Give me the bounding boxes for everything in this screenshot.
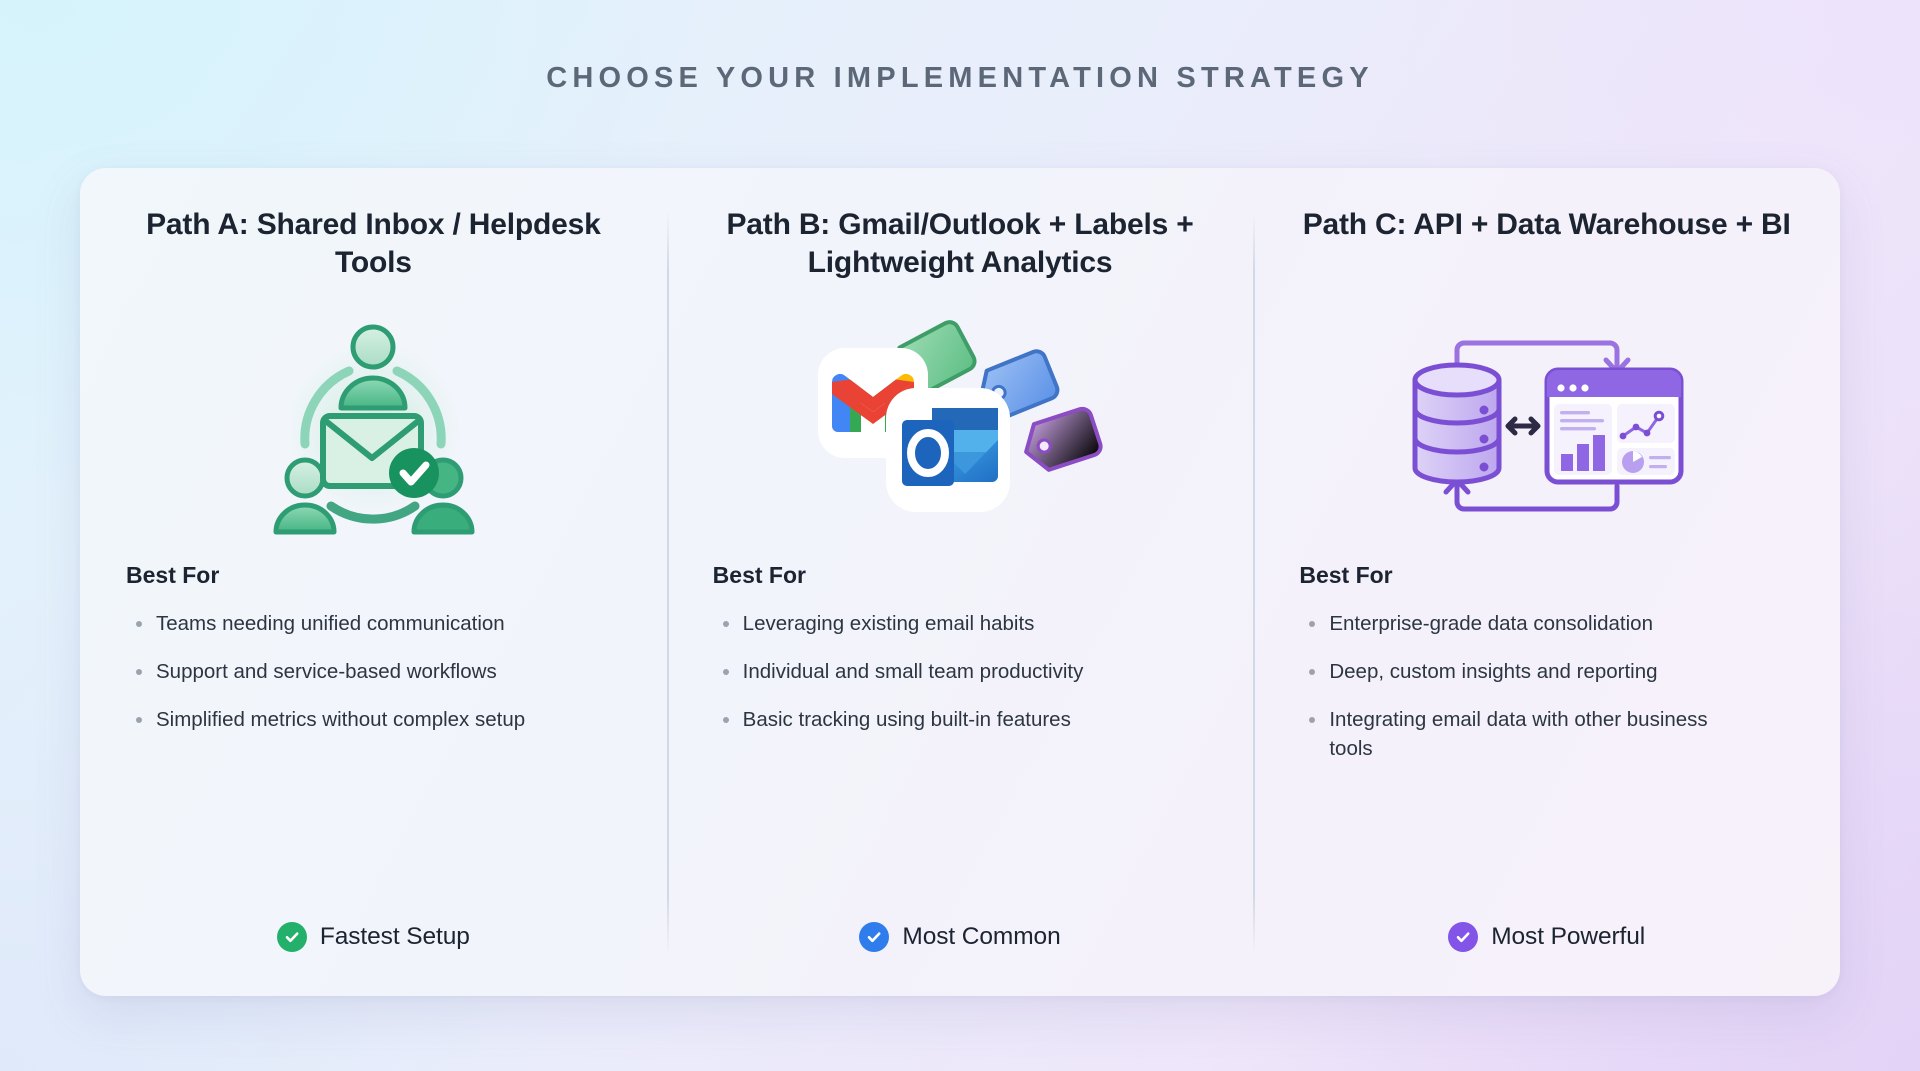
path-c-best-for-label: Best For [1299,562,1794,589]
path-c-bullet-list: Enterprise-grade data consolidation Deep… [1299,609,1794,782]
path-b-badge-label: Most Common [902,923,1060,951]
path-b-column[interactable]: Path B: Gmail/Outlook + Labels + Lightwe… [667,168,1254,996]
list-item: Teams needing unified communication [126,609,556,638]
path-b-bullet-list: Leveraging existing email habits Individ… [713,609,1208,753]
path-a-title: Path A: Shared Inbox / Helpdesk Tools [126,206,621,286]
path-c-column[interactable]: Path C: API + Data Warehouse + BI [1253,168,1840,996]
list-item: Individual and small team productivity [713,657,1143,686]
path-c-badge-label: Most Powerful [1491,923,1645,951]
check-circle-icon [859,922,889,952]
list-item: Support and service-based workflows [126,657,556,686]
check-circle-icon [277,922,307,952]
path-a-column[interactable]: Path A: Shared Inbox / Helpdesk Tools [80,168,667,996]
check-circle-icon [1448,922,1478,952]
list-item: Basic tracking using built-in features [713,705,1143,734]
strategy-comparison-card: Path A: Shared Inbox / Helpdesk Tools [80,168,1840,996]
list-item: Integrating email data with other busine… [1299,705,1729,763]
path-a-badge-label: Fastest Setup [320,923,470,951]
list-item: Deep, custom insights and reporting [1299,657,1729,686]
page-title: CHOOSE YOUR IMPLEMENTATION STRATEGY [0,62,1920,95]
path-b-status-badge: Most Common [713,922,1208,952]
list-item: Enterprise-grade data consolidation [1299,609,1729,638]
gmail-outlook-labels-illustration [713,292,1208,560]
path-b-best-for-label: Best For [713,562,1208,589]
path-c-status-badge: Most Powerful [1299,922,1794,952]
path-a-bullet-list: Teams needing unified communication Supp… [126,609,621,753]
path-c-title: Path C: API + Data Warehouse + BI [1299,206,1794,286]
path-b-title: Path B: Gmail/Outlook + Labels + Lightwe… [713,206,1208,286]
path-a-status-badge: Fastest Setup [126,922,621,952]
list-item: Simplified metrics without complex setup [126,705,556,734]
list-item: Leveraging existing email habits [713,609,1143,638]
database-dashboard-illustration [1299,292,1794,560]
shared-inbox-team-illustration [126,292,621,560]
path-a-best-for-label: Best For [126,562,621,589]
